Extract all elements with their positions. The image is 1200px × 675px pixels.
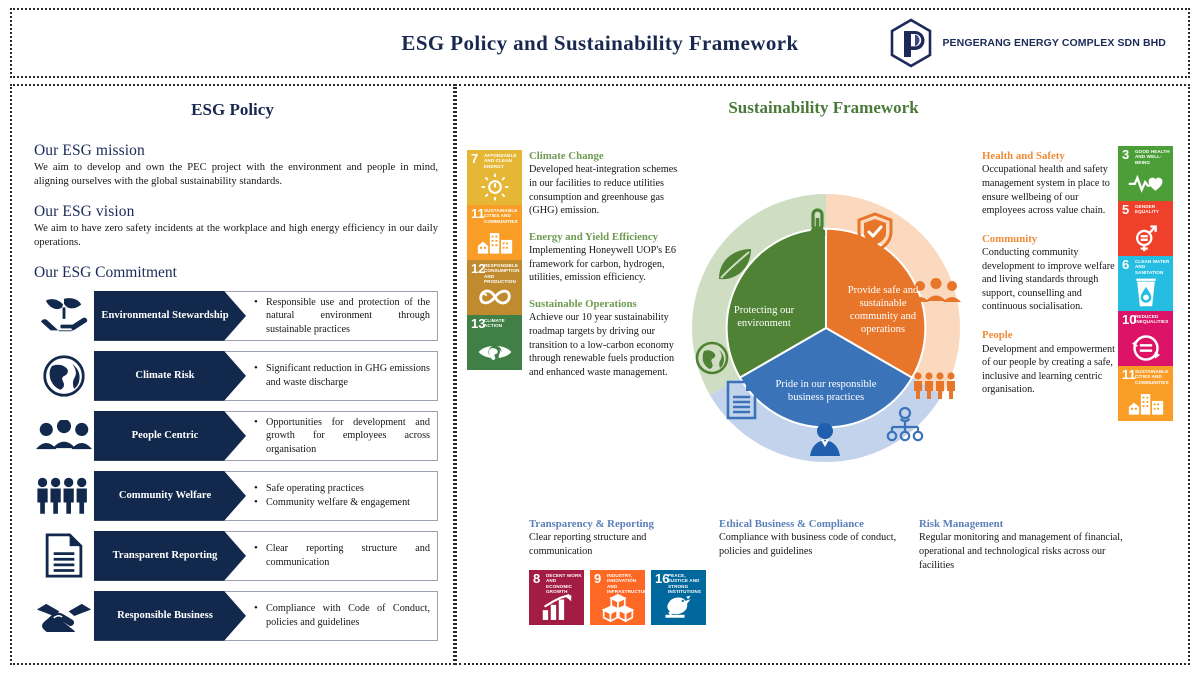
handshake-icon <box>34 591 94 641</box>
framework-block-body: Regular monitoring and management of fin… <box>919 531 1134 572</box>
sdg-number: 5 <box>1122 203 1129 216</box>
commitment-row: Transparent ReportingClear reporting str… <box>34 531 438 581</box>
framework-block: Climate ChangeDeveloped heat-integration… <box>529 150 681 218</box>
plant-in-hand-icon <box>34 291 94 341</box>
framework-block-heading: Health and Safety <box>982 150 1115 163</box>
framework-block-heading: Energy and Yield Efficiency <box>529 231 681 244</box>
esg-policy-panel: ESG Policy Our ESG mission We aim to dev… <box>10 84 455 665</box>
sdg-title: SUSTAINABLE CITIES AND COMMUNITIES <box>484 208 520 224</box>
commitment-bullet: Significant reduction in GHG emissions a… <box>254 362 430 389</box>
framework-block-heading: People <box>982 329 1115 342</box>
sdg-title: CLEAN WATER AND SANITATION <box>1135 259 1171 275</box>
framework-block-body: Conducting community development to impr… <box>982 246 1115 314</box>
sustainability-donut-chart: Protecting our environment Provide safe … <box>690 192 962 464</box>
city-icon <box>1118 386 1173 420</box>
framework-block-heading: Climate Change <box>529 150 681 163</box>
commitment-bullet: Opportunities for development and growth… <box>254 416 430 456</box>
page-header: ESG Policy and Sustainability Framework … <box>10 8 1190 78</box>
commitment-row: Community WelfareSafe operating practice… <box>34 471 438 521</box>
panel-divider <box>455 84 457 665</box>
company-name: PENGERANG ENERGY COMPLEX SDN BHD <box>942 37 1166 49</box>
framework-block: Ethical Business & ComplianceCompliance … <box>719 518 904 559</box>
infinity-icon <box>467 280 522 314</box>
vision-heading: Our ESG vision <box>34 203 438 221</box>
framework-block-body: Development and empowerment of our peopl… <box>982 343 1115 397</box>
framework-bottom-row: Transparency & ReportingClear reporting … <box>529 518 1149 578</box>
sdg-number: 7 <box>471 152 478 165</box>
commitment-description: Safe operating practicesCommunity welfar… <box>224 471 438 521</box>
hexagon-p-logo-icon <box>889 18 933 68</box>
commitment-bullet: Safe operating practices <box>254 482 410 495</box>
sdg-number: 6 <box>1122 258 1129 271</box>
framework-block: Energy and Yield EfficiencyImplementing … <box>529 231 681 285</box>
commitment-description: Opportunities for development and growth… <box>224 411 438 461</box>
gender-equality-icon <box>1118 221 1173 255</box>
commitment-description: Clear reporting structure and communicat… <box>224 531 438 581</box>
company-brand: PENGERANG ENERGY COMPLEX SDN BHD <box>889 18 1166 68</box>
framework-block: Risk ManagementRegular monitoring and ma… <box>919 518 1134 572</box>
commitment-label: Responsible Business <box>94 591 246 641</box>
sdg-tile-11: 11SUSTAINABLE CITIES AND COMMUNITIES <box>1118 366 1173 421</box>
commitment-description: Responsible use and protection of the na… <box>224 291 438 341</box>
sdg-tile-7: 7AFFORDABLE AND CLEAN ENERGY <box>467 150 522 205</box>
esg-policy-content: Our ESG mission We aim to develop and ow… <box>34 142 438 651</box>
commitment-label: Climate Risk <box>94 351 246 401</box>
document-icon <box>34 531 94 581</box>
commitment-list: Environmental StewardshipResponsible use… <box>34 291 438 641</box>
commitment-bullet: Clear reporting structure and communicat… <box>254 542 430 569</box>
growth-chart-icon <box>529 590 584 624</box>
sdg-tile-9: 9INDUSTRY, INNOVATION AND INFRASTRUCTURE <box>590 570 645 625</box>
framework-block: Transparency & ReportingClear reporting … <box>529 518 704 559</box>
sdg-tile-11: 11SUSTAINABLE CITIES AND COMMUNITIES <box>467 205 522 260</box>
commitment-row: Responsible BusinessCompliance with Code… <box>34 591 438 641</box>
commitment-row: People CentricOpportunities for developm… <box>34 411 438 461</box>
framework-block: Sustainable OperationsAchieve our 10 yea… <box>529 298 681 379</box>
framework-block-body: Achieve our 10 year sustainability roadm… <box>529 311 681 379</box>
sdg-tile-3: 3GOOD HEALTH AND WELL-BEING <box>1118 146 1173 201</box>
sdg-tile-12: 12RESPONSIBLE CONSUMPTION AND PRODUCTION <box>467 260 522 315</box>
sdg-tile-6: 6CLEAN WATER AND SANITATION <box>1118 256 1173 311</box>
sdg-title: SUSTAINABLE CITIES AND COMMUNITIES <box>1135 369 1171 385</box>
sdg-tile-5: 5GENDER EQUALITY <box>1118 201 1173 256</box>
commitment-label: Community Welfare <box>94 471 246 521</box>
commitment-label: Transparent Reporting <box>94 531 246 581</box>
commitment-row: Environmental StewardshipResponsible use… <box>34 291 438 341</box>
commitment-label: Environmental Stewardship <box>94 291 246 341</box>
water-glass-icon <box>1118 276 1173 310</box>
commitment-label: People Centric <box>94 411 246 461</box>
vision-body: We aim to have zero safety incidents at … <box>34 222 438 250</box>
framework-block-body: Occupational health and safety managemen… <box>982 163 1115 217</box>
four-people-icon <box>34 471 94 521</box>
framework-block: PeopleDevelopment and empowerment of our… <box>982 329 1115 397</box>
sdg-title: AFFORDABLE AND CLEAN ENERGY <box>484 153 520 169</box>
framework-block: Health and SafetyOccupational health and… <box>982 150 1115 218</box>
sdg-number: 11 <box>1122 368 1136 381</box>
commitment-heading: Our ESG Commitment <box>34 264 438 282</box>
people-group-icon <box>34 411 94 461</box>
framework-block-heading: Sustainable Operations <box>529 298 681 311</box>
dove-gavel-icon <box>651 590 706 624</box>
sdg-title: GENDER EQUALITY <box>1135 204 1171 215</box>
framework-block-body: Compliance with business code of conduct… <box>719 531 904 558</box>
equals-arrows-icon <box>1118 331 1173 365</box>
sdg-left-column: 7AFFORDABLE AND CLEAN ENERGY11SUSTAINABL… <box>467 150 522 370</box>
framework-left-column: Climate ChangeDeveloped heat-integration… <box>529 150 681 392</box>
sdg-number: 11 <box>471 207 485 220</box>
cubes-icon <box>590 590 645 624</box>
framework-block-heading: Transparency & Reporting <box>529 518 704 531</box>
framework-block-heading: Ethical Business & Compliance <box>719 518 904 531</box>
mission-body: We aim to develop and own the PEC projec… <box>34 161 438 189</box>
sdg-tile-8: 8DECENT WORK AND ECONOMIC GROWTH <box>529 570 584 625</box>
commitment-bullet: Compliance with Code of Conduct, policie… <box>254 602 430 629</box>
infographic-page: ESG Policy and Sustainability Framework … <box>0 0 1200 675</box>
framework-block: CommunityConducting community developmen… <box>982 233 1115 314</box>
sdg-tile-10: 10REDUCED INEQUALITIES <box>1118 311 1173 366</box>
donut-label-green: Protecting our environment <box>714 304 814 330</box>
sdg-number: 3 <box>1122 148 1129 161</box>
commitment-description: Compliance with Code of Conduct, policie… <box>224 591 438 641</box>
mission-heading: Our ESG mission <box>34 142 438 160</box>
sustainability-framework-title: Sustainability Framework <box>459 98 1188 118</box>
framework-right-column: Health and SafetyOccupational health and… <box>982 150 1115 412</box>
framework-block-body: Implementing Honeywell UOP's E6 framewor… <box>529 244 681 285</box>
globe-icon <box>34 351 94 401</box>
page-title: ESG Policy and Sustainability Framework <box>401 31 798 56</box>
sdg-tile-16: 16PEACE, JUSTICE AND STRONG INSTITUTIONS <box>651 570 706 625</box>
eye-earth-icon <box>467 335 522 369</box>
heartbeat-icon <box>1118 166 1173 200</box>
donut-label-orange: Provide safe and sustainable community a… <box>838 284 928 337</box>
commitment-row: Climate RiskSignificant reduction in GHG… <box>34 351 438 401</box>
sdg-bottom-row: 8DECENT WORK AND ECONOMIC GROWTH9INDUSTR… <box>529 570 706 625</box>
framework-block-body: Developed heat-integration schemes in ou… <box>529 163 681 217</box>
framework-block-heading: Community <box>982 233 1115 246</box>
sdg-tile-13: 13CLIMATE ACTION <box>467 315 522 370</box>
commitment-description: Significant reduction in GHG emissions a… <box>224 351 438 401</box>
commitment-bullet: Community welfare & engagement <box>254 496 410 509</box>
sun-power-icon <box>467 170 522 204</box>
sdg-title: GOOD HEALTH AND WELL-BEING <box>1135 149 1171 165</box>
esg-policy-title: ESG Policy <box>12 100 453 120</box>
city-icon <box>467 225 522 259</box>
sdg-right-column: 3GOOD HEALTH AND WELL-BEING5GENDER EQUAL… <box>1118 146 1173 421</box>
framework-block-body: Clear reporting structure and communicat… <box>529 531 704 558</box>
sdg-title: CLIMATE ACTION <box>484 318 520 329</box>
sdg-title: REDUCED INEQUALITIES <box>1135 314 1171 325</box>
commitment-bullet: Responsible use and protection of the na… <box>254 296 430 336</box>
donut-label-blue: Pride in our responsible business practi… <box>763 378 889 404</box>
framework-block-heading: Risk Management <box>919 518 1134 531</box>
